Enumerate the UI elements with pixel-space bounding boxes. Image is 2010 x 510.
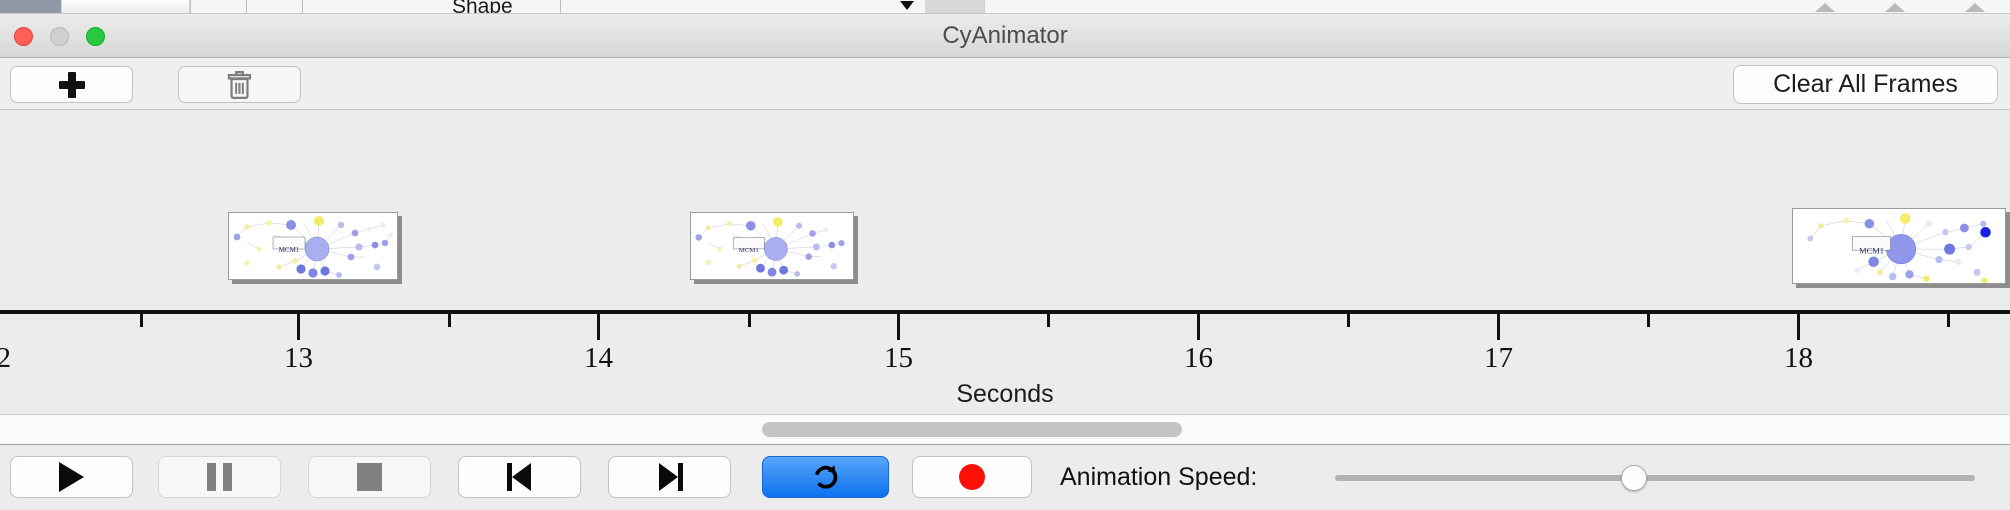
network-graph: MCM1: [229, 213, 398, 280]
timeline-panel: MCM1: [0, 110, 2010, 415]
bg-column-divider: [190, 0, 191, 14]
ruler-baseline: [0, 310, 2010, 314]
window-title: CyAnimator: [0, 14, 2010, 58]
playback-controls: Animation Speed:: [0, 446, 2010, 510]
stop-icon: [357, 463, 382, 491]
svg-text:MCM1: MCM1: [739, 247, 759, 254]
ruler-tick: [1947, 314, 1950, 327]
loop-button[interactable]: [762, 456, 889, 498]
skip-back-button[interactable]: [458, 456, 581, 498]
ruler-tick-label: 14: [584, 342, 613, 375]
animation-speed-label: Animation Speed:: [1060, 456, 1257, 498]
record-button[interactable]: [912, 456, 1032, 498]
timeline-scrollbar[interactable]: [0, 415, 2010, 445]
ruler-tick: [597, 314, 600, 340]
bg-marker-icon: [900, 1, 914, 10]
ruler-tick-label: 17: [1484, 342, 1513, 375]
background-window-strip: Shape: [0, 0, 2010, 14]
pause-button[interactable]: [158, 456, 281, 498]
ruler-tick-label: 15: [884, 342, 913, 375]
ruler-tick: [448, 314, 451, 327]
ruler-tick: [1647, 314, 1650, 327]
ruler-tick: [748, 314, 751, 327]
timeline-frame[interactable]: MCM1: [1792, 208, 2006, 284]
bg-column-divider: [302, 0, 303, 14]
network-thumbnail: MCM1: [1793, 209, 2005, 283]
delete-frame-button[interactable]: [178, 66, 301, 103]
axis-title: Seconds: [0, 380, 2010, 409]
sort-arrow-icon: [1815, 3, 1835, 12]
ruler-tick-label: 18: [1784, 342, 1813, 375]
timeline-frame[interactable]: MCM1: [690, 212, 854, 280]
ruler-tick-label: 13: [284, 342, 313, 375]
frames-area: MCM1: [0, 110, 2010, 310]
play-icon: [59, 462, 84, 492]
record-icon: [959, 464, 985, 490]
ruler-tick: [1797, 314, 1800, 340]
trash-icon: [226, 69, 253, 100]
slider-thumb[interactable]: [1621, 465, 1647, 491]
cyanimator-window: Shape CyAnimator Clear All Frames: [0, 0, 2010, 510]
animation-speed-slider[interactable]: [1335, 475, 1975, 481]
title-bar: CyAnimator: [0, 14, 2010, 58]
play-button[interactable]: [10, 456, 133, 498]
ruler-tick: [297, 314, 300, 340]
timeline-frame[interactable]: MCM1: [228, 212, 398, 280]
ruler-tick: [1047, 314, 1050, 327]
loop-icon: [811, 462, 841, 492]
bg-tab-selected: [0, 0, 62, 14]
ruler-tick-label: 12: [0, 342, 11, 375]
bg-tab: [925, 0, 985, 14]
sort-arrow-icon: [1965, 3, 1985, 12]
ruler-tick: [1497, 314, 1500, 340]
add-frame-button[interactable]: [10, 66, 133, 103]
svg-text:MCM1: MCM1: [279, 246, 300, 254]
ruler-tick: [897, 314, 900, 340]
ruler-tick-label: 16: [1184, 342, 1213, 375]
bg-column-divider: [560, 0, 561, 14]
clear-all-frames-button[interactable]: Clear All Frames: [1733, 65, 1998, 104]
timeline-ruler[interactable]: 12131415161718 Seconds: [0, 310, 2010, 415]
skip-forward-icon: [657, 463, 683, 491]
bg-column-divider: [246, 0, 247, 14]
plus-icon: [59, 72, 85, 98]
network-thumbnail: MCM1: [691, 213, 853, 279]
ruler-tick: [1197, 314, 1200, 340]
ruler-tick: [1347, 314, 1350, 327]
stop-button[interactable]: [308, 456, 431, 498]
skip-back-icon: [507, 463, 533, 491]
network-thumbnail: MCM1: [229, 213, 397, 279]
network-graph: MCM1: [1793, 209, 2006, 284]
pause-icon: [207, 463, 232, 491]
sort-arrow-icon: [1885, 3, 1905, 12]
bg-window-label: Shape: [452, 0, 513, 14]
network-graph: MCM1: [691, 213, 854, 280]
scrollbar-thumb[interactable]: [762, 422, 1182, 437]
bg-tab: [62, 0, 190, 14]
toolbar: Clear All Frames: [0, 58, 2010, 110]
ruler-tick: [140, 314, 143, 327]
skip-forward-button[interactable]: [608, 456, 731, 498]
svg-text:MCM1: MCM1: [1859, 245, 1884, 255]
